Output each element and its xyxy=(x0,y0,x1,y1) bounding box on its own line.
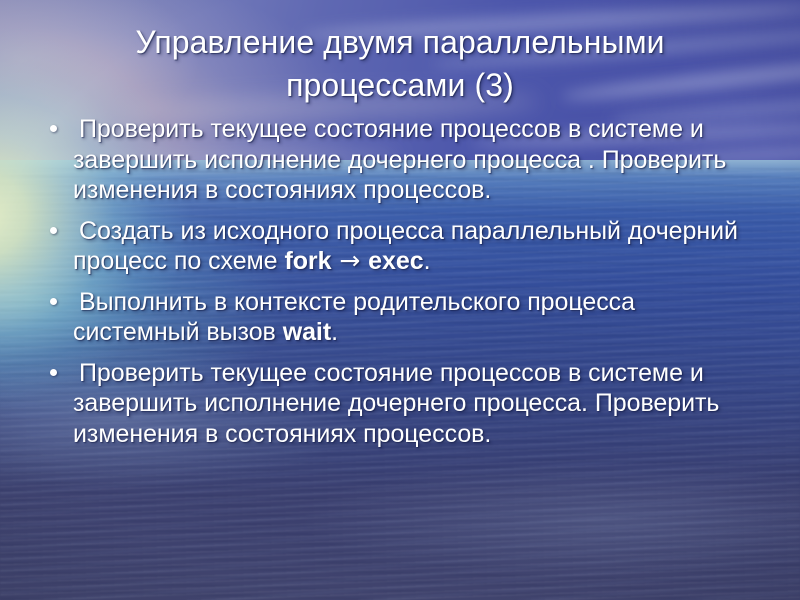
bullet-list: Проверить текущее состояние процессов в … xyxy=(45,114,765,459)
bullet-dot-icon xyxy=(50,227,57,234)
list-item-text: Проверить текущее состояние процессов в … xyxy=(73,358,765,450)
list-item-text-suffix: . xyxy=(424,247,431,275)
presentation-slide: Управление двумя параллельными процессам… xyxy=(0,0,800,600)
list-item: Выполнить в контексте родительского проц… xyxy=(45,287,765,348)
list-item: Проверить текущее состояние процессов в … xyxy=(45,358,765,450)
list-item-text: Выполнить в контексте родительского проц… xyxy=(73,287,765,348)
list-item-text-suffix: . xyxy=(331,318,338,346)
code-term-fork: fork xyxy=(284,247,331,275)
list-item: Создать из исходного процесса параллельн… xyxy=(45,216,765,277)
code-term-exec: exec xyxy=(368,247,423,275)
bullet-dot-icon xyxy=(50,298,57,305)
list-item: Проверить текущее состояние процессов в … xyxy=(45,114,765,206)
slide-title: Управление двумя параллельными процессам… xyxy=(58,21,742,107)
list-item-text: Создать из исходного процесса параллельн… xyxy=(73,216,765,277)
list-item-text: Проверить текущее состояние процессов в … xyxy=(73,114,765,206)
arrow-right-icon: → xyxy=(331,246,368,275)
bullet-dot-icon xyxy=(50,125,57,132)
code-term-wait: wait xyxy=(283,318,331,346)
list-item-text-prefix: Выполнить в контексте родительского проц… xyxy=(73,288,635,347)
slide-content: Управление двумя параллельными процессам… xyxy=(0,0,800,600)
bullet-dot-icon xyxy=(50,369,57,376)
